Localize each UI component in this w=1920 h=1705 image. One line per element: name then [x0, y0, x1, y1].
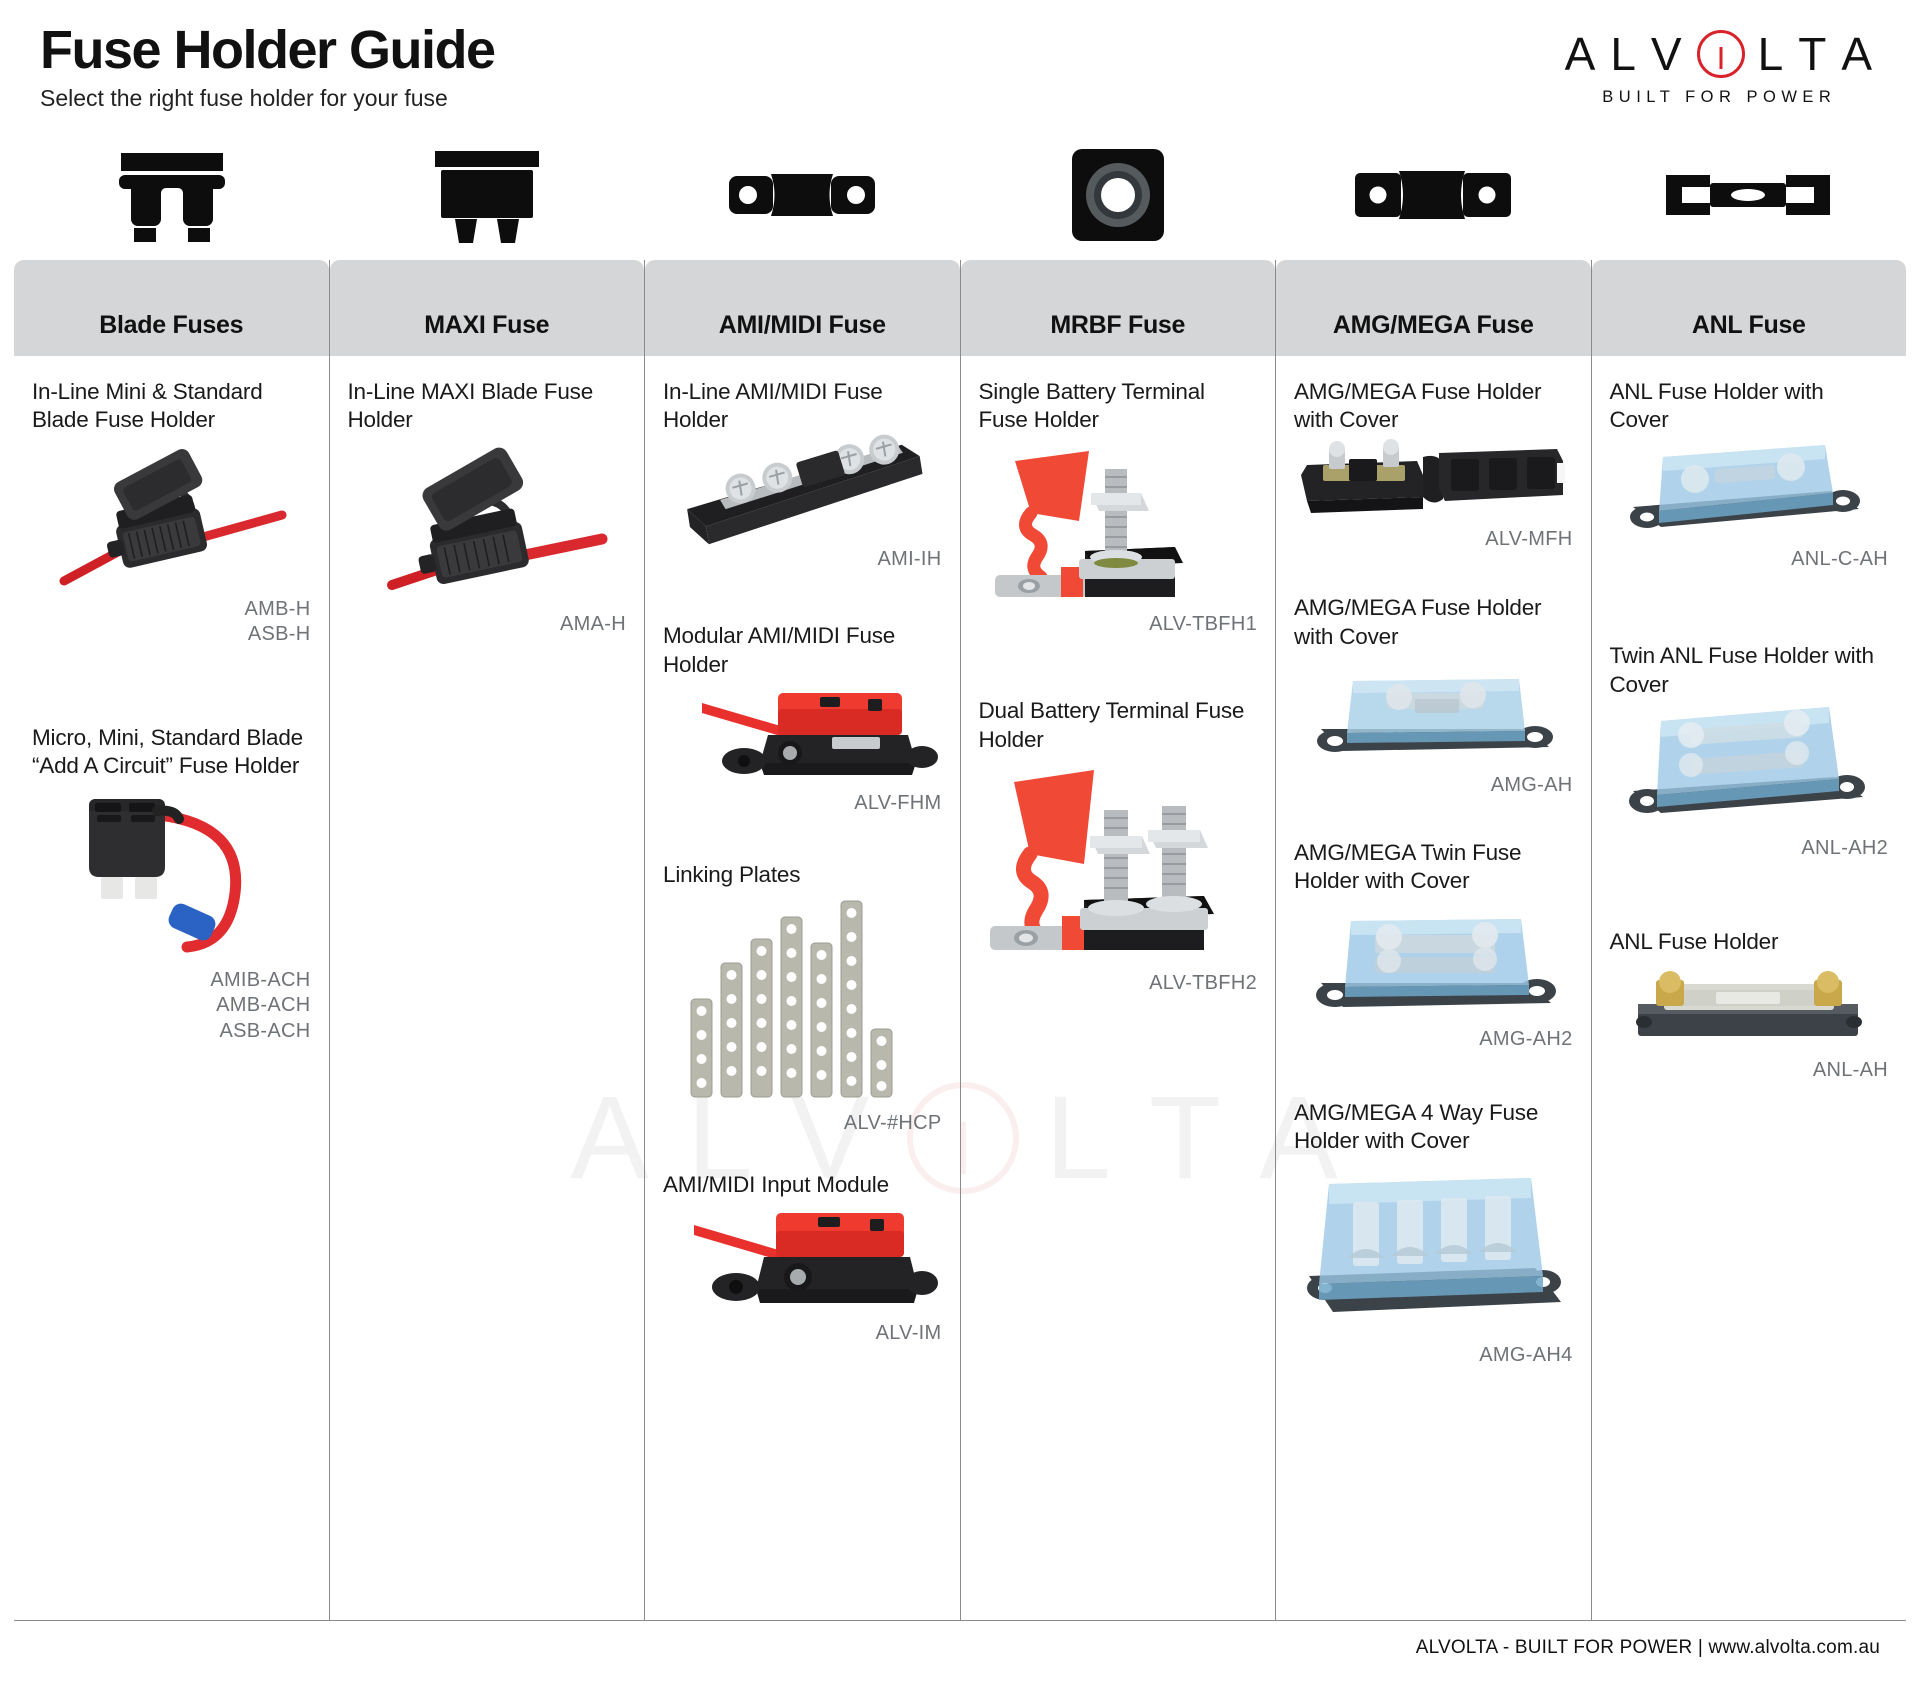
product-item[interactable]: ANL Fuse Holder with Cover [1610, 378, 1889, 572]
product-code: AMG-AH2 [1294, 1027, 1573, 1053]
logo-letter-a1: A [1565, 31, 1598, 77]
logo-tagline: BUILT FOR POWER [1565, 88, 1874, 107]
product-image-anl-fuse-holder [1610, 956, 1889, 1056]
product-code: ALV-TBFH2 [979, 971, 1258, 997]
product-item[interactable]: Micro, Mini, Standard Blade “Add A Circu… [32, 724, 311, 1044]
product-name: ANL Fuse Holder [1610, 928, 1889, 956]
logo-letter-l2: L [1758, 31, 1786, 77]
product-item[interactable]: AMI/MIDI Input Module [663, 1171, 942, 1347]
page-header: Fuse Holder Guide Select the right fuse … [0, 0, 1920, 130]
product-name: Micro, Mini, Standard Blade “Add A Circu… [32, 724, 311, 781]
product-code-list: AMG-AH2 [1294, 1027, 1573, 1053]
logo-letter-l1: L [1610, 31, 1638, 77]
product-name: Twin ANL Fuse Holder with Cover [1610, 642, 1889, 699]
column-header-label: Blade Fuses [99, 311, 243, 340]
product-code-list: AMA-H [348, 612, 627, 638]
product-code: ALV-IM [663, 1321, 942, 1347]
column-header-label: MRBF Fuse [1050, 311, 1185, 340]
product-image-amg-mega-4way-fuse-holder-cover [1294, 1156, 1573, 1341]
product-item[interactable]: Twin ANL Fuse Holder with Cover [1610, 642, 1889, 861]
column-header-label: MAXI Fuse [424, 311, 549, 340]
product-code: ALV-#HCP [663, 1111, 942, 1137]
product-item[interactable]: AMG/MEGA 4 Way Fuse Holder with Cover [1294, 1099, 1573, 1368]
anl-fuse-icon [1591, 130, 1906, 260]
column-header-maxi-fuse: MAXI Fuse [330, 260, 645, 356]
product-item[interactable]: AMG/MEGA Twin Fuse Holder with Cover [1294, 839, 1573, 1053]
product-code-list: ALV-MFH [1294, 527, 1573, 553]
product-code: AMIB-ACH [32, 968, 311, 994]
column-body-ami-midi-fuse: In-Line AMI/MIDI Fuse Holder [645, 356, 960, 1360]
logo-wordmark: A L V L T A [1565, 28, 1874, 80]
product-code-list: ANL-AH2 [1610, 836, 1889, 862]
logo-o-bar [1719, 47, 1722, 69]
column-anl-fuse: ANL Fuse ANL Fuse Holder with Cover [1591, 260, 1907, 1620]
page-footer: ALVOLTA - BUILT FOR POWER | www.alvolta.… [0, 1621, 1920, 1659]
product-image-dual-battery-terminal-fuse-holder [979, 754, 1258, 969]
logo-letter-a2: A [1841, 31, 1874, 77]
product-image-inline-blade-fuse-holder [32, 435, 311, 595]
product-code-list: AMI-IH [663, 547, 942, 573]
product-name: AMG/MEGA Fuse Holder with Cover [1294, 378, 1573, 435]
product-item[interactable]: Linking Plates [663, 861, 942, 1137]
product-image-amg-mega-twin-fuse-holder-cover [1294, 895, 1573, 1025]
product-code: AMB-H [32, 597, 311, 623]
product-code: ALV-FHM [663, 791, 942, 817]
ami-midi-fuse-icon [645, 130, 960, 260]
footer-text: ALVOLTA - BUILT FOR POWER | www.alvolta.… [1416, 1637, 1880, 1658]
guide-table-wrapper: A L V L T A Blade Fuses In-Line Mini & S… [0, 260, 1920, 1620]
product-item[interactable]: Dual Battery Terminal Fuse Holder [979, 697, 1258, 996]
fuse-type-icon-strip [0, 130, 1920, 260]
fuse-holder-guide-page: Fuse Holder Guide Select the right fuse … [0, 0, 1920, 1705]
column-header-amg-mega-fuse: AMG/MEGA Fuse [1276, 260, 1591, 356]
column-ami-midi-fuse: AMI/MIDI Fuse In-Line AMI/MIDI Fuse Hold… [644, 260, 960, 1620]
column-body-maxi-fuse: In-Line MAXI Blade Fuse Holder [330, 356, 645, 651]
mrbf-fuse-icon [960, 130, 1275, 260]
product-image-linking-plates [663, 889, 942, 1109]
product-image-twin-anl-fuse-holder-cover [1610, 699, 1889, 834]
logo-power-o-icon [1697, 30, 1745, 78]
product-code: AMG-AH4 [1294, 1343, 1573, 1369]
product-name: AMG/MEGA Twin Fuse Holder with Cover [1294, 839, 1573, 896]
column-body-anl-fuse: ANL Fuse Holder with Cover [1592, 356, 1907, 1098]
column-body-amg-mega-fuse: AMG/MEGA Fuse Holder with Cover [1276, 356, 1591, 1382]
product-image-inline-ami-midi-fuse-holder [663, 435, 942, 545]
product-code: AMB-ACH [32, 993, 311, 1019]
product-item[interactable]: In-Line MAXI Blade Fuse Holder [348, 378, 627, 637]
product-code: ANL-AH [1610, 1058, 1889, 1084]
column-header-anl-fuse: ANL Fuse [1592, 260, 1907, 356]
product-image-amg-mega-fuse-holder-cover [1294, 435, 1573, 525]
product-name: Single Battery Terminal Fuse Holder [979, 378, 1258, 435]
column-header-blade-fuses: Blade Fuses [14, 260, 329, 356]
product-item[interactable]: AMG/MEGA Fuse Holder with Cover [1294, 594, 1573, 798]
product-image-anl-fuse-holder-cover [1610, 435, 1889, 545]
product-item[interactable]: Single Battery Terminal Fuse Holder [979, 378, 1258, 637]
product-code-list: ALV-IM [663, 1321, 942, 1347]
product-item[interactable]: ANL Fuse Holder [1610, 928, 1889, 1084]
product-code: AMI-IH [663, 547, 942, 573]
product-code: AMA-H [348, 612, 627, 638]
product-code: ALV-MFH [1294, 527, 1573, 553]
product-code-list: ANL-AH [1610, 1058, 1889, 1084]
product-name: In-Line MAXI Blade Fuse Holder [348, 378, 627, 435]
column-body-mrbf-fuse: Single Battery Terminal Fuse Holder [961, 356, 1276, 1011]
product-name: AMI/MIDI Input Module [663, 1171, 942, 1199]
product-item[interactable]: In-Line Mini & Standard Blade Fuse Holde… [32, 378, 311, 648]
product-name: In-Line Mini & Standard Blade Fuse Holde… [32, 378, 311, 435]
column-amg-mega-fuse: AMG/MEGA Fuse AMG/MEGA Fuse Holder with … [1275, 260, 1591, 1620]
product-name: Dual Battery Terminal Fuse Holder [979, 697, 1258, 754]
column-header-ami-midi-fuse: AMI/MIDI Fuse [645, 260, 960, 356]
product-code-list: AMIB-ACH AMB-ACH ASB-ACH [32, 968, 311, 1045]
column-header-label: AMG/MEGA Fuse [1333, 311, 1534, 340]
product-name: ANL Fuse Holder with Cover [1610, 378, 1889, 435]
product-item[interactable]: Modular AMI/MIDI Fuse Holder [663, 622, 942, 816]
blade-fuse-icon [14, 130, 329, 260]
maxi-fuse-icon [329, 130, 644, 260]
product-name: AMG/MEGA 4 Way Fuse Holder with Cover [1294, 1099, 1573, 1156]
product-code-list: AMG-AH4 [1294, 1343, 1573, 1369]
alvolta-logo: A L V L T A BUILT FOR POWER [1565, 28, 1874, 107]
column-header-mrbf-fuse: MRBF Fuse [961, 260, 1276, 356]
product-code-list: ALV-TBFH2 [979, 971, 1258, 997]
product-image-amg-mega-fuse-holder-cover-blue [1294, 651, 1573, 771]
product-image-modular-ami-midi-fuse-holder [663, 679, 942, 789]
product-code-list: ALV-FHM [663, 791, 942, 817]
product-code: ANL-AH2 [1610, 836, 1889, 862]
column-body-blade-fuses: In-Line Mini & Standard Blade Fuse Holde… [14, 356, 329, 1058]
product-image-inline-maxi-blade-fuse-holder [348, 435, 627, 610]
product-code: ANL-C-AH [1610, 547, 1889, 573]
product-code-list: ALV-#HCP [663, 1111, 942, 1137]
fuse-holder-table: Blade Fuses In-Line Mini & Standard Blad… [0, 260, 1920, 1620]
product-image-single-battery-terminal-fuse-holder [979, 435, 1258, 610]
product-code-list: AMB-H ASB-H [32, 597, 311, 648]
product-item[interactable]: In-Line AMI/MIDI Fuse Holder [663, 378, 942, 572]
product-image-ami-midi-input-module [663, 1199, 942, 1319]
product-item[interactable]: AMG/MEGA Fuse Holder with Cover [1294, 378, 1573, 552]
product-name: In-Line AMI/MIDI Fuse Holder [663, 378, 942, 435]
product-name: Modular AMI/MIDI Fuse Holder [663, 622, 942, 679]
product-code: AMG-AH [1294, 773, 1573, 799]
product-code: ALV-TBFH1 [979, 612, 1258, 638]
column-blade-fuses: Blade Fuses In-Line Mini & Standard Blad… [14, 260, 329, 1620]
column-header-label: AMI/MIDI Fuse [719, 311, 886, 340]
product-name: AMG/MEGA Fuse Holder with Cover [1294, 594, 1573, 651]
product-image-add-a-circuit-holder [32, 781, 311, 966]
column-maxi-fuse: MAXI Fuse In-Line MAXI Blade Fuse Holder [329, 260, 645, 1620]
product-code: ASB-ACH [32, 1019, 311, 1045]
column-mrbf-fuse: MRBF Fuse Single Battery Terminal Fuse H… [960, 260, 1276, 1620]
logo-letter-v: V [1651, 31, 1684, 77]
product-code-list: ANL-C-AH [1610, 547, 1889, 573]
product-code: ASB-H [32, 622, 311, 648]
amg-mega-fuse-icon [1275, 130, 1590, 260]
logo-letter-t: T [1798, 31, 1828, 77]
column-header-label: ANL Fuse [1692, 311, 1806, 340]
product-code-list: ALV-TBFH1 [979, 612, 1258, 638]
product-code-list: AMG-AH [1294, 773, 1573, 799]
product-name: Linking Plates [663, 861, 942, 889]
